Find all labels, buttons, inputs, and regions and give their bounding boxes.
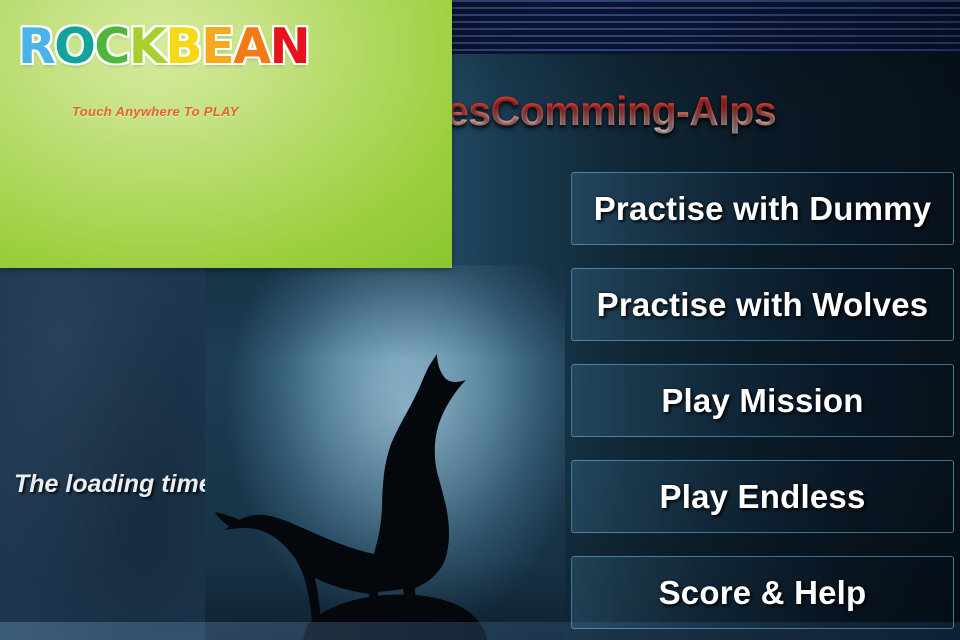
loading-tip-text: The loading time may vary xyxy=(14,470,205,499)
loading-tip-container: The loading time may vary xyxy=(0,468,205,508)
logo-letter-b-4: B xyxy=(165,18,201,75)
left-panel-texture xyxy=(0,265,205,640)
game-screen: esComming-Alps Practise with Dummy Pract… xyxy=(0,0,960,640)
menu-button-label: Practise with Wolves xyxy=(597,286,929,324)
logo-letter-e-5: E xyxy=(201,18,233,75)
logo-letter-k-3: K xyxy=(129,18,165,75)
menu-button-label: Play Mission xyxy=(661,382,863,420)
menu-button-label: Score & Help xyxy=(659,574,867,612)
rockbean-logo: ROCKBEAN xyxy=(18,18,309,75)
logo-letter-a-6: A xyxy=(233,18,269,75)
play-endless-button[interactable]: Play Endless xyxy=(571,460,954,533)
practise-with-wolves-button[interactable]: Practise with Wolves xyxy=(571,268,954,341)
logo-letter-r-0: R xyxy=(18,18,54,75)
left-info-panel xyxy=(0,265,205,640)
logo-letter-c-2: C xyxy=(94,18,128,75)
menu-button-label: Practise with Dummy xyxy=(594,190,932,228)
wolf-scene xyxy=(205,265,565,640)
score-and-help-button[interactable]: Score & Help xyxy=(571,556,954,629)
logo-letter-n-7: N xyxy=(270,18,310,75)
logo-letter-o-1: O xyxy=(54,18,94,75)
touch-to-play-tagline: Touch Anywhere To PLAY xyxy=(72,104,239,119)
howling-wolf-silhouette xyxy=(215,340,565,640)
menu-button-label: Play Endless xyxy=(659,478,865,516)
play-mission-button[interactable]: Play Mission xyxy=(571,364,954,437)
splash-overlay[interactable]: ROCKBEAN Touch Anywhere To PLAY xyxy=(0,0,452,268)
wolf-body xyxy=(225,354,466,624)
game-title: esComming-Alps xyxy=(446,88,776,135)
practise-with-dummy-button[interactable]: Practise with Dummy xyxy=(571,172,954,245)
main-menu: Practise with Dummy Practise with Wolves… xyxy=(571,172,954,640)
